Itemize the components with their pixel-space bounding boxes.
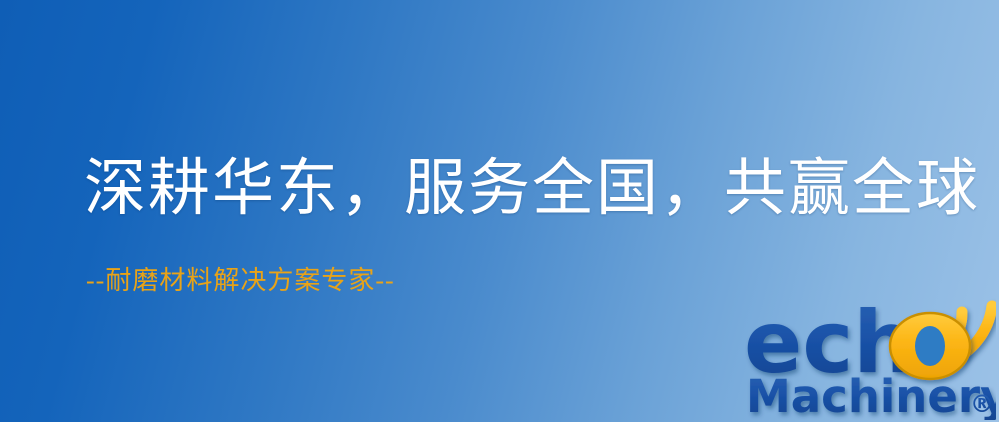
page-title: 深耕华东，服务全国，共赢全球: [84, 152, 980, 226]
page-subtitle: --耐磨材料解决方案专家--: [86, 265, 395, 297]
company-logo[interactable]: ech Machinery ®: [744, 296, 996, 420]
hero-banner: 深耕华东，服务全国，共赢全球 --耐磨材料解决方案专家--: [0, 0, 999, 422]
registered-trademark-icon: ®: [970, 390, 994, 418]
logo-subword-text: Machinery: [746, 370, 996, 420]
